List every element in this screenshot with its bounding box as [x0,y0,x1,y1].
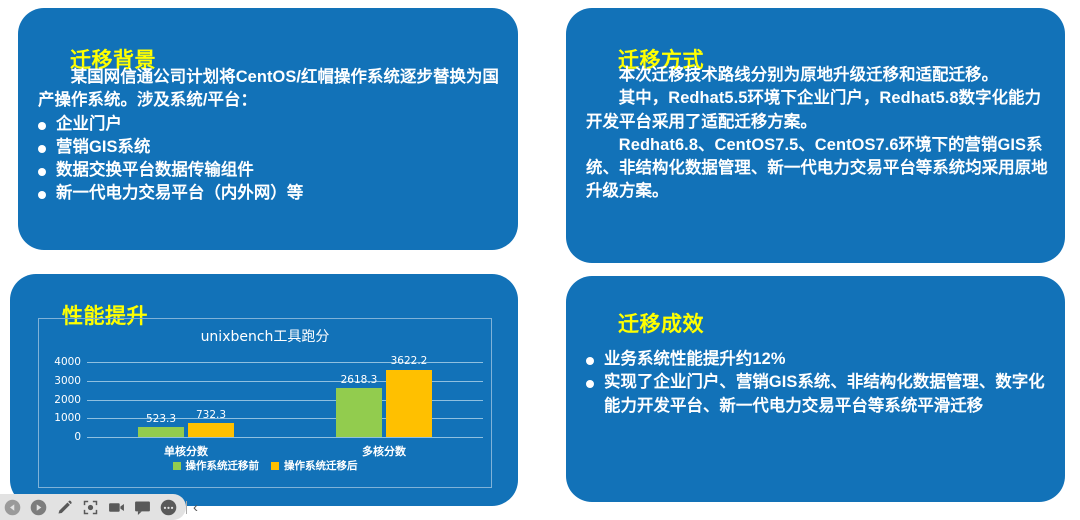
toolbar-divider [186,501,187,514]
panel-migration-outcome: 迁移成效 业务系统性能提升约12% 实现了企业门户、营销GIS系统、非结构化数据… [566,276,1065,502]
collapse-toolbar-button[interactable]: ‹ [193,500,198,515]
more-icon[interactable] [160,499,177,516]
list-item: 实现了企业门户、营销GIS系统、非结构化数据管理、数字化能力开发平台、新一代电力… [586,371,1054,418]
chart-value-label: 523.3 [146,413,176,425]
chart-x-tick: 多核分数 [362,443,406,459]
bullet-dot-icon [586,357,594,365]
bullet-dot-icon [38,168,46,176]
panel-body-outcome: 业务系统性能提升约12% 实现了企业门户、营销GIS系统、非结构化数据管理、数字… [586,348,1054,418]
list-item: 营销GIS系统 [38,136,504,159]
camera-icon[interactable] [108,499,125,516]
legend-item-after: 操作系统迁移后 [271,458,358,473]
outcome-bullet-list: 业务系统性能提升约12% 实现了企业门户、营销GIS系统、非结构化数据管理、数字… [586,348,1054,418]
background-paragraph: 某国网信通公司计划将CentOS/红帽操作系统逐步替换为国产操作系统。涉及系统/… [38,66,504,113]
method-paragraph-2: Redhat6.8、CentOS7.5、CentOS7.6环境下的营销GIS系统… [586,134,1054,204]
background-bullet-3: 新一代电力交易平台（内外网）等 [56,182,504,205]
chart-gridline [87,437,483,438]
panel-migration-background: 迁移背景 某国网信通公司计划将CentOS/红帽操作系统逐步替换为国产操作系统。… [18,8,518,250]
legend-swatch-before-icon [173,462,181,470]
panel-title-outcome: 迁移成效 [618,313,704,336]
unixbench-bar-chart: unixbench工具跑分 01000200030004000 523.3732… [38,318,492,488]
chart-bar [336,388,382,437]
panel-migration-method: 迁移方式 本次迁移技术路线分别为原地升级迁移和适配迁移。 其中，Redhat5.… [566,8,1065,263]
chart-y-tick: 2000 [54,394,81,406]
bullet-dot-icon [586,380,594,388]
chart-value-label: 732.3 [196,409,226,421]
media-playback-toolbar[interactable]: ‹ [0,494,186,520]
outcome-bullet-0: 业务系统性能提升约12% [604,348,1054,371]
list-item: 业务系统性能提升约12% [586,348,1054,371]
chart-x-tick: 单核分数 [164,443,208,459]
background-bullet-1: 营销GIS系统 [56,136,504,159]
outcome-bullet-1: 实现了企业门户、营销GIS系统、非结构化数据管理、数字化能力开发平台、新一代电力… [604,371,1054,418]
method-paragraph-0: 本次迁移技术路线分别为原地升级迁移和适配迁移。 [586,64,1054,87]
chart-legend: 操作系统迁移前 操作系统迁移后 [39,458,491,473]
pen-icon[interactable] [56,499,73,516]
chart-y-tick: 3000 [54,375,81,387]
list-item: 企业门户 [38,113,504,136]
chart-y-tick: 1000 [54,412,81,424]
legend-label-after: 操作系统迁移后 [284,458,358,473]
chart-value-label: 2618.3 [341,374,378,386]
chart-value-label: 3622.2 [391,355,428,367]
bullet-dot-icon [38,191,46,199]
background-bullet-2: 数据交换平台数据传输组件 [56,159,504,182]
laser-pointer-icon[interactable] [82,499,99,516]
chart-title: unixbench工具跑分 [39,326,491,346]
play-icon[interactable] [30,499,47,516]
method-paragraph-1: 其中，Redhat5.5环境下企业门户，Redhat5.8数字化能力开发平台采用… [586,87,1054,134]
comment-icon[interactable] [134,499,151,516]
chart-bar [138,427,184,437]
bullet-dot-icon [38,122,46,130]
panel-body-background: 某国网信通公司计划将CentOS/红帽操作系统逐步替换为国产操作系统。涉及系统/… [38,66,504,206]
chart-bar [188,423,234,437]
chart-bar [386,370,432,438]
legend-label-before: 操作系统迁移前 [186,458,260,473]
chart-y-tick: 0 [74,431,81,443]
list-item: 新一代电力交易平台（内外网）等 [38,182,504,205]
background-bullet-list: 企业门户 营销GIS系统 数据交换平台数据传输组件 新一代电力交易平台（内外网）… [38,113,504,206]
bullet-dot-icon [38,145,46,153]
panel-performance-improvement: 性能提升 unixbench工具跑分 01000200030004000 523… [10,274,518,506]
previous-icon[interactable] [4,499,21,516]
panel-body-method: 本次迁移技术路线分别为原地升级迁移和适配迁移。 其中，Redhat5.5环境下企… [586,64,1054,204]
background-bullet-0: 企业门户 [56,113,504,136]
chart-y-tick: 4000 [54,356,81,368]
slide-canvas: 迁移背景 某国网信通公司计划将CentOS/红帽操作系统逐步替换为国产操作系统。… [0,0,1080,520]
chart-plot-area: 01000200030004000 523.3732.32618.33622.2… [87,355,483,437]
list-item: 数据交换平台数据传输组件 [38,159,504,182]
legend-swatch-after-icon [271,462,279,470]
legend-item-before: 操作系统迁移前 [173,458,260,473]
